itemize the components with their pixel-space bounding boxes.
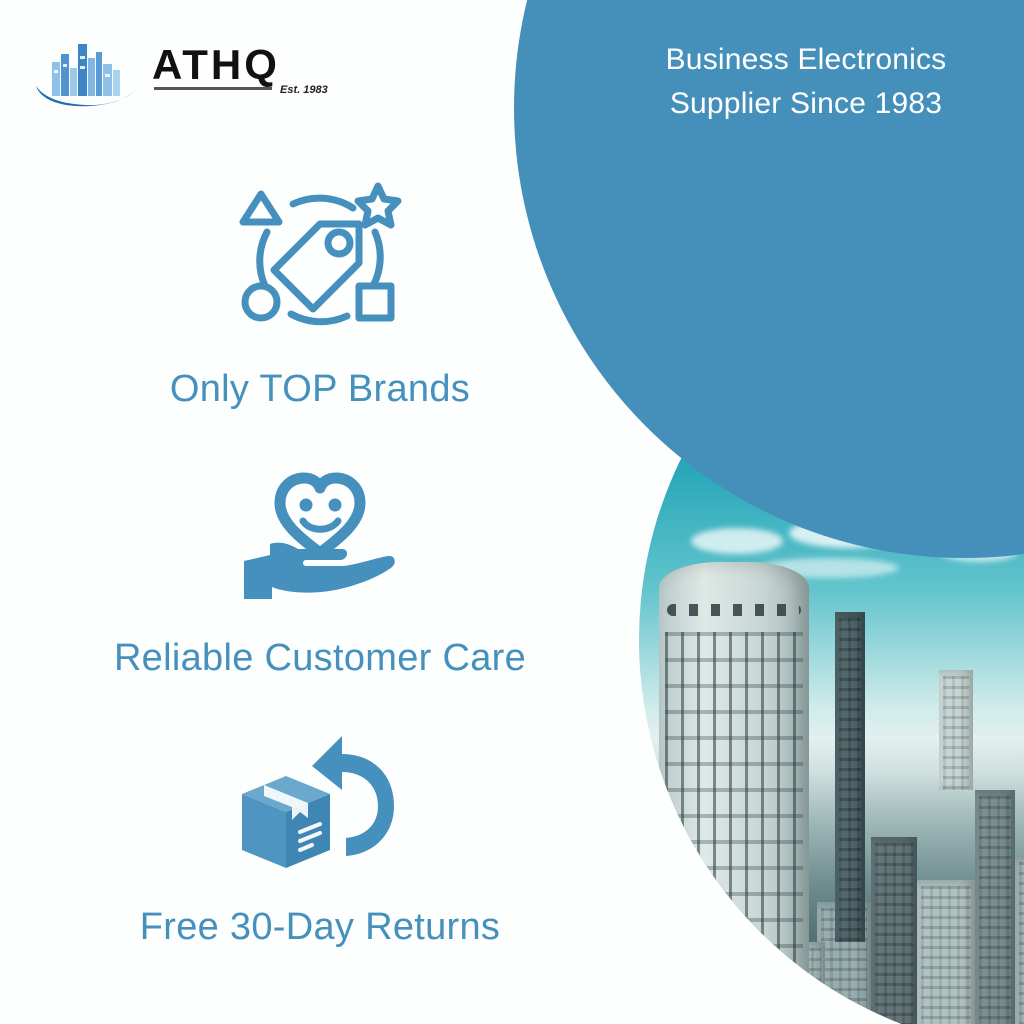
package-return-arrow-icon bbox=[234, 732, 406, 878]
feature-label-customer-care: Reliable Customer Care bbox=[114, 637, 526, 680]
promo-graphic: Business Electronics Supplier Since 1983 bbox=[0, 0, 1024, 1024]
feature-item-returns: Free 30-Day Returns bbox=[0, 732, 640, 949]
building bbox=[939, 670, 973, 790]
feature-item-customer-care: Reliable Customer Care bbox=[0, 461, 640, 680]
svg-text:ATHQ: ATHQ bbox=[152, 41, 280, 88]
building bbox=[917, 880, 975, 1024]
banner-headline: Business Electronics Supplier Since 1983 bbox=[600, 38, 1012, 125]
hand-holding-heart-icon bbox=[240, 461, 400, 607]
building bbox=[871, 837, 917, 1024]
feature-label-brands: Only TOP Brands bbox=[170, 368, 470, 411]
city-skyline bbox=[639, 582, 1024, 1024]
feature-label-returns: Free 30-Day Returns bbox=[140, 906, 501, 949]
feature-item-brands: Only TOP Brands bbox=[0, 180, 640, 411]
city-skyline-icon bbox=[34, 34, 138, 110]
building bbox=[1015, 856, 1024, 1024]
building bbox=[975, 790, 1015, 1024]
cloud-shape bbox=[691, 528, 783, 554]
banner-headline-line2: Supplier Since 1983 bbox=[600, 82, 1012, 126]
feature-list: Only TOP Brands Reliable Customer Care bbox=[0, 180, 640, 949]
foreground-tower bbox=[659, 562, 809, 982]
athq-wordmark-icon: ATHQ Est. 1983 bbox=[152, 41, 352, 103]
banner-headline-line1: Business Electronics bbox=[600, 38, 1012, 82]
logo-wordmark: ATHQ Est. 1983 bbox=[152, 41, 352, 103]
building bbox=[835, 612, 865, 942]
brand-logo[interactable]: ATHQ Est. 1983 bbox=[34, 34, 352, 110]
price-tag-brands-icon bbox=[235, 180, 405, 340]
logo-established-text: Est. 1983 bbox=[280, 84, 328, 96]
